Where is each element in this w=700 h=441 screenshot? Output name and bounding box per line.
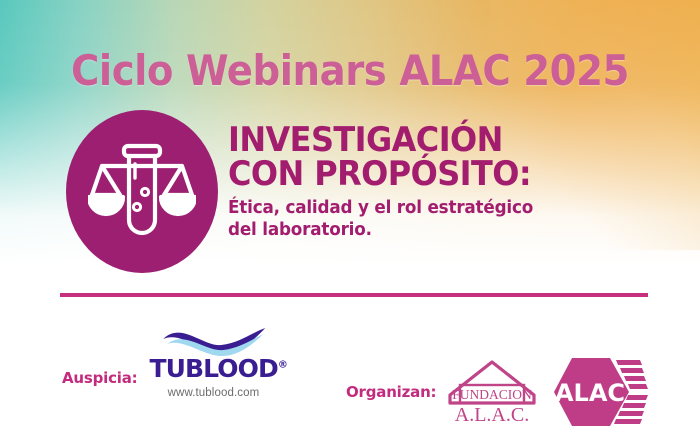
subtitle-line-2: del laboratorio. [228, 220, 631, 242]
webinar-poster: Ciclo Webinars ALAC 2025 [0, 0, 700, 441]
alac-logo: ALAC [554, 356, 652, 428]
tublood-wordmark: TUBLOOD® [149, 356, 287, 381]
divider [60, 293, 648, 297]
svg-text:A.L.A.C.: A.L.A.C. [455, 404, 529, 425]
fundacion-alac-logo: FUNDACION A.L.A.C. [446, 359, 538, 425]
registered-mark: ® [278, 360, 287, 371]
organizers-group: Organizan: FUNDACION A.L.A.C. [346, 356, 652, 428]
svg-text:FUNDACION: FUNDACION [453, 387, 533, 402]
title-line-2: CON PROPÓSITO: [228, 158, 623, 192]
tublood-logo: TUBLOOD® www.tublood.com [149, 356, 277, 399]
subtitle: Ética, calidad y el rol estratégico del … [228, 198, 631, 241]
tublood-name: TUBLOOD [149, 354, 277, 383]
tublood-url: www.tublood.com [149, 387, 277, 399]
footer: Auspicia: TUBLOOD® www.tublood.com Organ… [0, 318, 700, 441]
title-line-1: INVESTIGACIÓN [228, 124, 623, 158]
title-block: INVESTIGACIÓN CON PROPÓSITO: Ética, cali… [228, 124, 648, 242]
auspicia-label: Auspicia: [62, 369, 137, 387]
scales-test-tube-icon [88, 140, 196, 244]
alac-wordmark: ALAC [555, 379, 625, 407]
organizan-label: Organizan: [346, 383, 436, 401]
subtitle-line-1: Ética, calidad y el rol estratégico [228, 198, 631, 220]
emblem-circle [66, 110, 218, 273]
page-title: Ciclo Webinars ALAC 2025 [28, 46, 672, 95]
sponsor-group: Auspicia: TUBLOOD® www.tublood.com [62, 356, 277, 399]
